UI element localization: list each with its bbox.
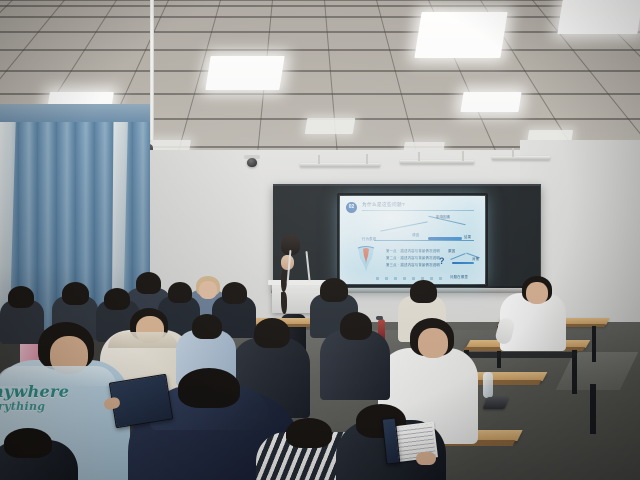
classroom-photo: 02 为什么是这些问题? 影响因素 行为表现 诱因 结果 第一点 · 描述内容与… (0, 0, 640, 480)
jacket-stripe (305, 251, 310, 281)
bottle-cap (376, 316, 383, 320)
shirt-print-line2: rything (0, 400, 45, 413)
track-leg (366, 154, 368, 164)
ceiling-light-panel (460, 92, 521, 112)
wall-light-track (492, 156, 550, 160)
track-leg (318, 155, 320, 164)
presenter-hair-right (281, 292, 287, 314)
ceiling-mount-pole (150, 0, 154, 140)
presenter-speaker (281, 234, 315, 296)
ceiling-light-panel (305, 118, 356, 134)
ceiling-light-panel (557, 0, 640, 34)
hood (108, 332, 178, 348)
track-leg (418, 152, 420, 161)
wall-light-track (300, 163, 380, 167)
track-leg (512, 148, 514, 157)
hand (416, 452, 436, 465)
ceiling-tile-row (0, 50, 640, 71)
track-leg (462, 151, 464, 161)
ceiling-light-panel (414, 12, 507, 58)
ceiling-tile-row (0, 32, 640, 50)
ceiling-light-panel (205, 56, 284, 90)
clear-water-bottle (483, 372, 493, 398)
shirt-print-line1: nywhere (0, 382, 69, 401)
wall-dome-sensor-icon (247, 158, 257, 167)
ceiling-tile-row (0, 71, 640, 94)
screen-bezel (337, 193, 488, 287)
